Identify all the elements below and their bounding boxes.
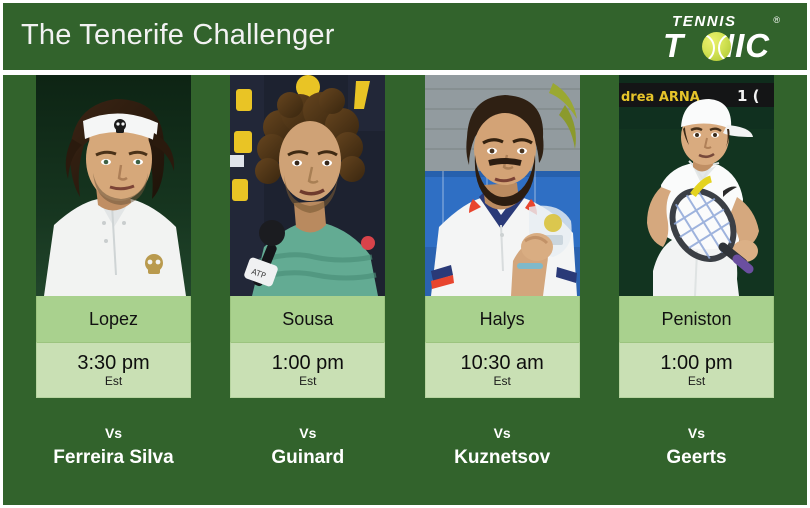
opponent-cell: Vs Guinard bbox=[230, 423, 385, 472]
player-name: Sousa bbox=[282, 309, 333, 330]
opponent-cell: Vs Kuznetsov bbox=[425, 423, 580, 472]
page-header: The Tenerife Challenger TENNIS ® TONIC bbox=[3, 3, 807, 70]
opponent-list: Vs Ferreira Silva Vs Guinard Vs Kuznetso… bbox=[3, 423, 807, 472]
player-name: Halys bbox=[480, 309, 525, 330]
tennis-ball-icon bbox=[702, 32, 731, 61]
player-name-band: Sousa bbox=[230, 296, 385, 342]
match-timezone: Est bbox=[105, 375, 122, 388]
match-time: 10:30 am bbox=[460, 353, 543, 374]
ball-seam-right-icon bbox=[718, 33, 731, 61]
opponent-name: Guinard bbox=[230, 444, 385, 472]
player-photo-lopez bbox=[36, 75, 191, 296]
match-card[interactable]: ATP Sousa 1:00 pm Est bbox=[230, 75, 385, 421]
player-name: Lopez bbox=[89, 309, 138, 330]
opponent-name: Ferreira Silva bbox=[36, 444, 191, 472]
page-root: The Tenerife Challenger TENNIS ® TONIC bbox=[0, 0, 810, 508]
match-timezone: Est bbox=[688, 375, 705, 388]
opponent-name: Kuznetsov bbox=[425, 444, 580, 472]
player-name-band: Lopez bbox=[36, 296, 191, 342]
registered-trademark-icon: ® bbox=[773, 15, 780, 25]
vs-label: Vs bbox=[425, 423, 580, 444]
svg-text:1 (: 1 ( bbox=[737, 87, 760, 105]
vs-label: Vs bbox=[619, 423, 774, 444]
match-time-band: 3:30 pm Est bbox=[36, 342, 191, 398]
vs-label: Vs bbox=[36, 423, 191, 444]
match-timezone: Est bbox=[493, 375, 510, 388]
page-title: The Tenerife Challenger bbox=[21, 19, 335, 52]
match-time-band: 1:00 pm Est bbox=[230, 342, 385, 398]
match-timezone: Est bbox=[299, 375, 316, 388]
match-time: 3:30 pm bbox=[77, 353, 149, 374]
opponent-cell: Vs Ferreira Silva bbox=[36, 423, 191, 472]
match-time: 1:00 pm bbox=[272, 353, 344, 374]
opponent-name: Geerts bbox=[619, 444, 774, 472]
match-time-band: 10:30 am Est bbox=[425, 342, 580, 398]
tennis-tonic-logo[interactable]: TENNIS ® TONIC bbox=[634, 14, 786, 64]
match-time: 1:00 pm bbox=[660, 353, 732, 374]
player-name: Peniston bbox=[661, 309, 731, 330]
content-frame: The Tenerife Challenger TENNIS ® TONIC bbox=[3, 3, 807, 505]
match-card[interactable]: Halys 10:30 am Est bbox=[425, 75, 580, 421]
match-card[interactable]: Lopez 3:30 pm Est bbox=[36, 75, 191, 421]
match-card[interactable]: drea ARNA 1 ( bbox=[619, 75, 774, 421]
player-name-band: Halys bbox=[425, 296, 580, 342]
logo-letter-t: T bbox=[663, 27, 684, 64]
match-card-list: Lopez 3:30 pm Est bbox=[3, 75, 807, 421]
svg-text:drea ARNA: drea ARNA bbox=[621, 90, 700, 105]
player-photo-halys bbox=[425, 75, 580, 296]
player-name-band: Peniston bbox=[619, 296, 774, 342]
match-time-band: 1:00 pm Est bbox=[619, 342, 774, 398]
player-photo-peniston: drea ARNA 1 ( bbox=[619, 75, 774, 296]
player-photo-sousa: ATP bbox=[230, 75, 385, 296]
opponent-cell: Vs Geerts bbox=[619, 423, 774, 472]
ball-seam-left-icon bbox=[702, 33, 715, 61]
vs-label: Vs bbox=[230, 423, 385, 444]
